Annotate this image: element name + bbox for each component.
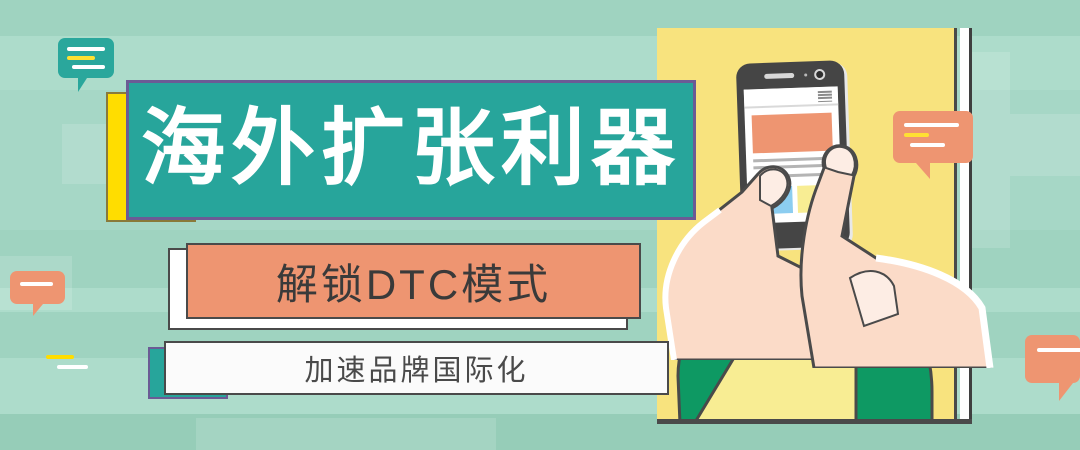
bubble-line-white: [910, 143, 945, 147]
speech-bubble-top-left: [58, 38, 114, 78]
hamburger-menu-icon: [818, 91, 832, 102]
bubble-line-white: [67, 47, 105, 51]
dash-white: [57, 365, 88, 369]
title-box: 海外扩张利器: [126, 80, 696, 220]
background-block: [196, 418, 496, 450]
bubble-tail: [33, 304, 43, 316]
bubble-line-yellow: [904, 133, 929, 137]
bubble-tail: [78, 78, 87, 92]
screen-nav-bar: [744, 86, 839, 108]
phone-camera-icon: [814, 69, 825, 80]
bubble-line-white: [904, 123, 959, 127]
bubble-line-white: [1037, 348, 1080, 352]
bubble-tail: [916, 163, 930, 179]
subtitle-1-box: 解锁DTC模式: [186, 243, 641, 319]
bubble-line-white: [20, 282, 53, 286]
subtitle-2-box: 加速品牌国际化: [164, 341, 669, 395]
subtitle-1-text: 解锁DTC模式: [276, 251, 551, 312]
phone-speaker-icon: [764, 73, 794, 79]
speech-bubble-left: [10, 271, 65, 304]
right-hand: [790, 128, 1000, 368]
phone-sensor-icon: [804, 73, 807, 76]
dash-yellow: [46, 355, 74, 359]
illustration-floor-line: [657, 419, 972, 424]
speech-bubble-phone-right: [893, 111, 973, 163]
bubble-line-yellow: [67, 56, 95, 60]
page-title: 海外扩张利器: [141, 108, 681, 192]
speech-bubble-bottom-right: [1025, 335, 1080, 383]
bubble-tail: [1059, 383, 1073, 401]
bubble-line-white: [72, 65, 105, 69]
background-block: [970, 52, 1010, 114]
promotional-banner: 海外扩张利器 解锁DTC模式 加速品牌国际化: [0, 0, 1080, 450]
subtitle-2-text: 加速品牌国际化: [304, 347, 528, 389]
